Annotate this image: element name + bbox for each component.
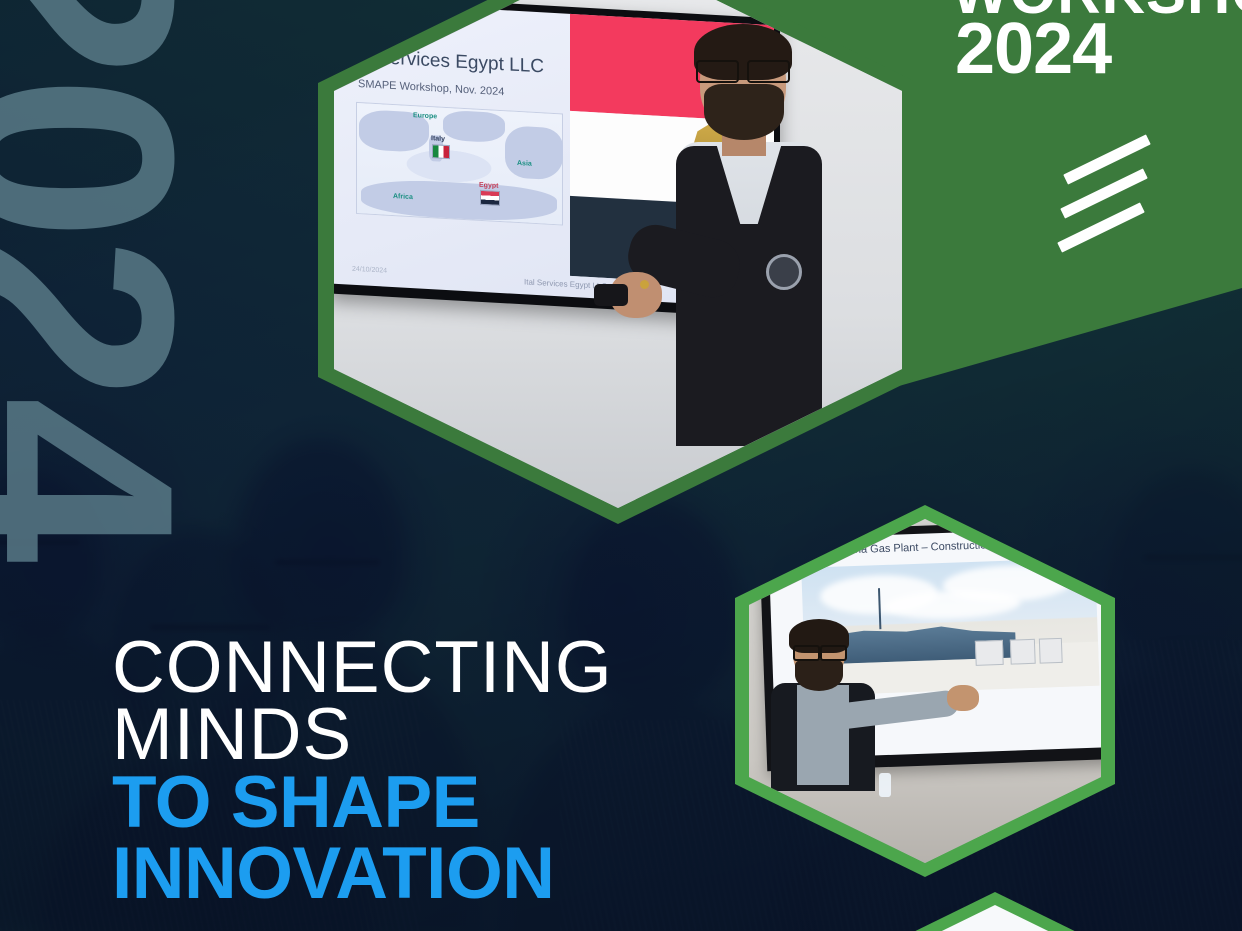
mediterranean-map: Europe Asia Africa Italy Egypt bbox=[356, 102, 563, 226]
hexagon-photo-main: at Services Egypt LLC SMAPE Workshop, No… bbox=[318, 0, 918, 524]
water-bottle bbox=[879, 773, 891, 797]
hexagon-photo-secondary: ITAL SERVICES EGYPT Meleiha Gas Plant – … bbox=[735, 505, 1115, 877]
speaker-ring bbox=[640, 280, 649, 289]
hexagon-photo-third bbox=[845, 892, 1145, 931]
speaker-hand bbox=[947, 685, 979, 711]
speaker-eyeglasses-icon bbox=[696, 60, 790, 79]
year-watermark: 2024 bbox=[0, 0, 186, 557]
slide-subtitle: SMAPE Workshop, Nov. 2024 bbox=[358, 78, 504, 98]
headline-line-2: MINDS bbox=[112, 701, 772, 768]
diagonal-stripes-icon bbox=[1063, 140, 1153, 250]
presenter-clicker-icon bbox=[594, 284, 628, 306]
hexagon-photo-clip bbox=[858, 905, 1132, 931]
speaker-figure bbox=[771, 623, 981, 783]
headline-line-4: INNOVATION bbox=[112, 839, 772, 910]
storage-tank bbox=[1010, 639, 1036, 665]
headline-block: CONNECTING MINDS TO SHAPE INNOVATION bbox=[112, 634, 772, 910]
speaker-shirt bbox=[797, 685, 849, 785]
headline-line-1: CONNECTING bbox=[112, 634, 772, 701]
hexagon-photo-clip: at Services Egypt LLC SMAPE Workshop, No… bbox=[334, 0, 902, 508]
speaker-eyeglasses-icon bbox=[793, 645, 847, 657]
map-label-asia: Asia bbox=[517, 160, 532, 168]
map-landmass-east-europe bbox=[443, 110, 505, 143]
italy-flag-icon bbox=[432, 144, 450, 159]
map-label-africa: Africa bbox=[393, 193, 413, 201]
slide-footer-date: 24/10/2024 bbox=[352, 266, 387, 275]
speaker-wristwatch bbox=[766, 254, 802, 290]
speaker-beard bbox=[704, 84, 784, 140]
headline-line-3: TO SHAPE bbox=[112, 768, 772, 839]
storage-tank bbox=[1039, 638, 1062, 664]
speaker-beard bbox=[795, 659, 843, 691]
panel-year-label: 2024 bbox=[955, 8, 1111, 90]
egypt-flag-small-icon bbox=[480, 190, 500, 206]
map-label-europe: Europe bbox=[413, 112, 437, 120]
presentation-photo-one: at Services Egypt LLC SMAPE Workshop, No… bbox=[334, 0, 902, 508]
map-label-italy: Italy bbox=[431, 135, 445, 143]
map-landmass-asia bbox=[505, 125, 563, 180]
map-label-egypt: Egypt bbox=[479, 182, 498, 190]
speaker-figure bbox=[634, 22, 884, 482]
poster-canvas: 2024 WORKSHOP 2024 at Services Egypt LLC… bbox=[0, 0, 1242, 931]
